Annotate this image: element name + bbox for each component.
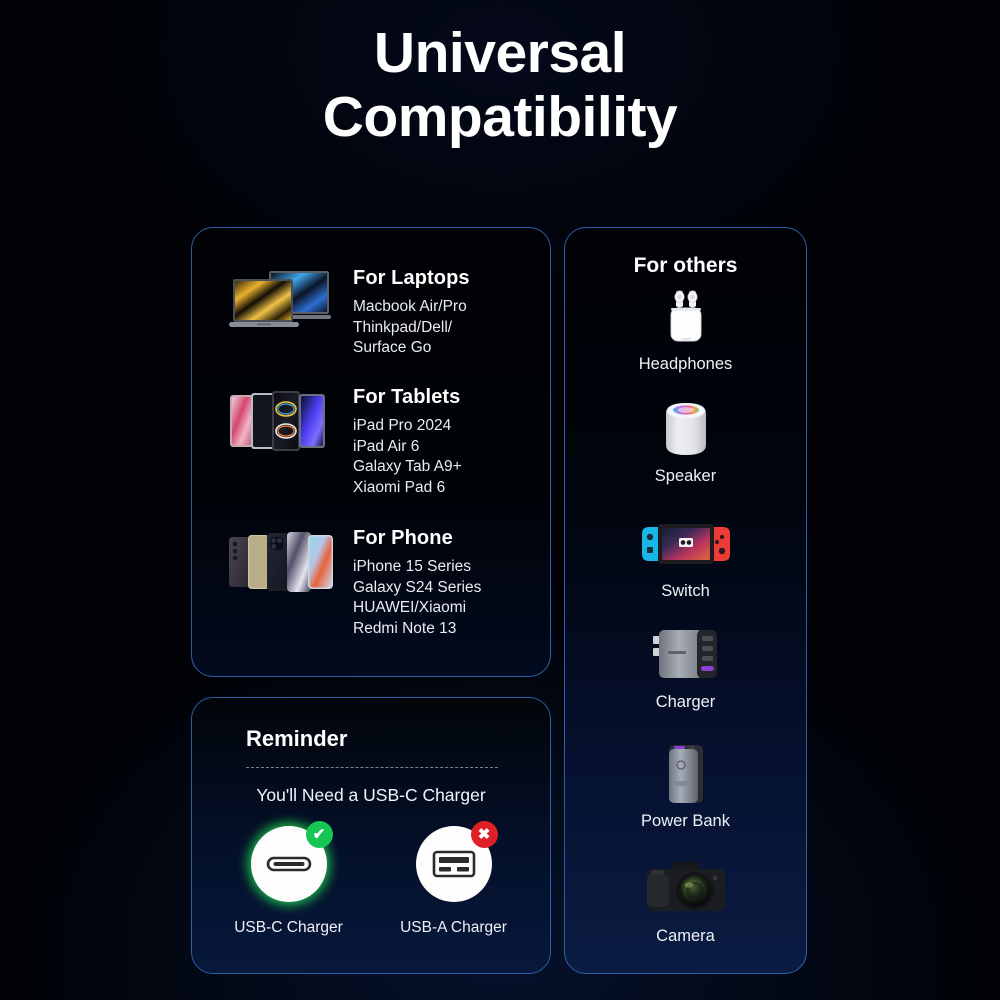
usb-a-bad-badge: ✖ [471,821,498,848]
device-section-phone: For Phone iPhone 15 Series Galaxy S24 Se… [227,526,481,639]
others-card: For others Headphones [564,227,807,974]
others-title: For others [565,254,806,278]
smart-speaker-icon [565,398,806,460]
other-item-power-bank: Power Bank [565,743,806,831]
other-label-power-bank: Power Bank [565,812,806,831]
laptops-item: Macbook Air/Pro [353,297,470,318]
phones-item: HUAWEI/Xiaomi [353,598,481,619]
page-title-line-1: Universal [0,22,1000,86]
device-section-laptops: For Laptops Macbook Air/Pro Thinkpad/Del… [227,266,470,359]
tablets-heading: For Tablets [353,385,462,409]
laptops-heading: For Laptops [353,266,470,290]
tablets-image [227,385,335,462]
reminder-subtitle: You'll Need a USB-C Charger [192,785,550,806]
camera-icon [565,858,806,920]
reminder-card: Reminder You'll Need a USB-C Charger ✔ U… [191,697,551,974]
laptops-list: Macbook Air/Pro Thinkpad/Dell/ Surface G… [353,297,470,359]
game-console-icon [565,513,806,575]
other-item-switch: Switch [565,513,806,601]
laptops-image [227,266,335,343]
tablets-item: iPad Air 6 [353,437,462,458]
wall-charger-icon [565,624,806,686]
reminder-divider [246,767,498,768]
page-root: Universal Compatibility [0,0,1000,1000]
other-label-switch: Switch [565,582,806,601]
tablets-item: iPad Pro 2024 [353,416,462,437]
laptops-item: Thinkpad/Dell/ [353,318,470,339]
devices-card: For Laptops Macbook Air/Pro Thinkpad/Del… [191,227,551,677]
other-item-speaker: Speaker [565,398,806,486]
charger-option-usb-a: ✖ USB-A Charger [395,826,512,937]
phones-heading: For Phone [353,526,481,550]
other-item-camera: Camera [565,858,806,946]
charger-option-usb-c: ✔ USB-C Charger [230,826,347,937]
page-title: Universal Compatibility [0,22,1000,150]
usb-c-circle-wrap: ✔ [251,826,327,902]
other-label-camera: Camera [565,927,806,946]
device-section-tablets: For Tablets iPad Pro 2024 iPad Air 6 Gal… [227,385,462,498]
reminder-title: Reminder [246,726,347,752]
tablets-item: Xiaomi Pad 6 [353,478,462,499]
usb-a-label: USB-A Charger [395,919,512,937]
earbuds-case-icon [565,286,806,348]
other-item-headphones: Headphones [565,286,806,374]
laptops-item: Surface Go [353,338,470,359]
usb-c-label: USB-C Charger [230,919,347,937]
power-bank-icon [565,743,806,805]
other-label-headphones: Headphones [565,355,806,374]
page-title-line-2: Compatibility [0,86,1000,150]
laptops-text: For Laptops Macbook Air/Pro Thinkpad/Del… [353,266,470,359]
other-label-speaker: Speaker [565,467,806,486]
tablets-item: Galaxy Tab A9+ [353,457,462,478]
phones-item: Galaxy S24 Series [353,578,481,599]
usb-c-ok-badge: ✔ [306,821,333,848]
phones-list: iPhone 15 Series Galaxy S24 Series HUAWE… [353,557,481,639]
charger-options: ✔ USB-C Charger ✖ USB-A [192,826,550,937]
other-item-charger: Charger [565,624,806,712]
other-label-charger: Charger [565,693,806,712]
tablets-list: iPad Pro 2024 iPad Air 6 Galaxy Tab A9+ … [353,416,462,498]
phones-text: For Phone iPhone 15 Series Galaxy S24 Se… [353,526,481,639]
phones-item: Redmi Note 13 [353,619,481,640]
usb-a-circle-wrap: ✖ [416,826,492,902]
tablets-text: For Tablets iPad Pro 2024 iPad Air 6 Gal… [353,385,462,498]
phones-image [227,526,335,603]
phones-item: iPhone 15 Series [353,557,481,578]
